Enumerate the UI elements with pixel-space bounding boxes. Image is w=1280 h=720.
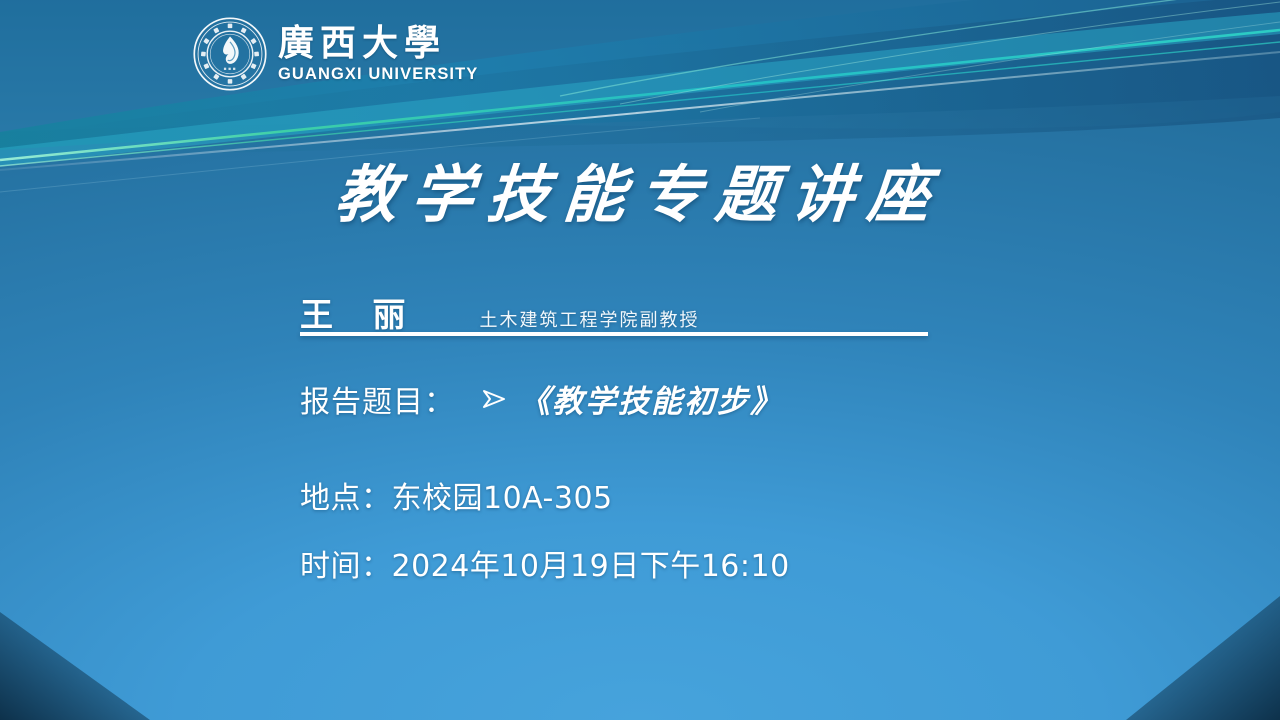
slide-title: 教学技能专题讲座 [0,144,1280,234]
background-decoration [0,0,1280,720]
university-logo: 廣西大學 GUANGXI UNIVERSITY [192,16,478,92]
speaker-affiliation: 土木建筑工程学院副教授 [480,306,700,332]
speaker-divider [300,332,928,336]
university-seal-icon [192,16,268,92]
presentation-slide: 廣西大學 GUANGXI UNIVERSITY 教学技能专题讲座 王 丽 土木建… [0,0,1280,720]
topic-row: 报告题目： 《教学技能初步》 [300,376,783,421]
topic-label: 报告题目： [300,377,455,421]
topic-value: 《教学技能初步》 [519,376,783,421]
speaker-name: 王 丽 [300,288,420,336]
time-text: 时间：2024年10月19日下午16:10 [300,549,790,584]
arrow-bullet-icon [481,388,507,410]
university-name-en: GUANGXI UNIVERSITY [278,65,478,84]
university-name-cn: 廣西大學 [278,24,478,62]
venue-text: 地点：东校园10A-305 [300,481,613,516]
time-row: 时间：2024年10月19日下午16:10 [300,541,790,585]
venue-row: 地点：东校园10A-305 [300,473,613,517]
speaker-row: 王 丽 土木建筑工程学院副教授 [300,288,700,336]
university-name-group: 廣西大學 GUANGXI UNIVERSITY [278,24,478,83]
